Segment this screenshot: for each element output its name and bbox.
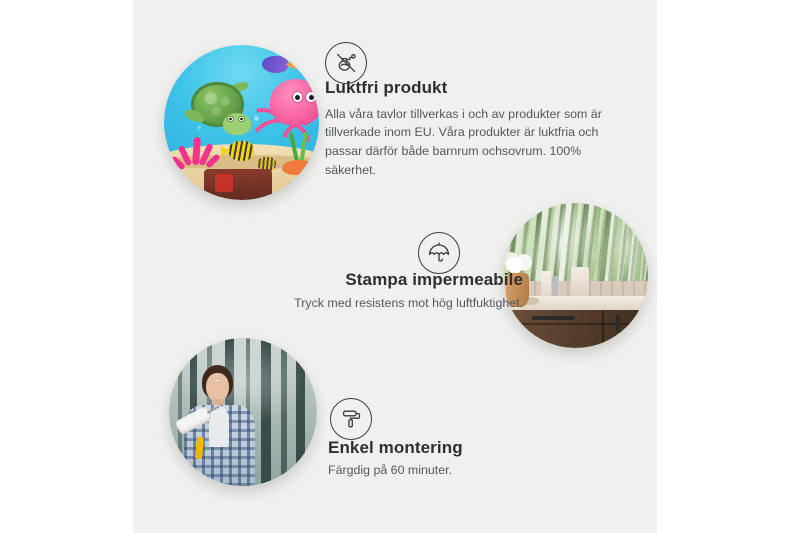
feature-body: Färgdig på 60 minuter. <box>328 461 588 480</box>
door-handle <box>616 314 620 332</box>
feature-title: Luktfri produkt <box>325 78 617 98</box>
toiletry-bottle <box>541 271 551 297</box>
striped-fish-icon <box>228 141 254 161</box>
feature-title: Enkel montering <box>328 438 588 458</box>
octopus-icon <box>248 79 319 153</box>
paint-roller-icon <box>330 398 372 440</box>
feature-body: Alla våra tavlor tillverkas i och av pro… <box>325 105 617 180</box>
drawer-handle <box>532 316 576 320</box>
faucet-icon <box>552 276 558 296</box>
bathroom-botanical-wallpaper-photo <box>503 203 648 348</box>
feature-block-waterproof: Stampa impermeabile Tryck med resistens … <box>193 270 523 312</box>
umbrella-icon <box>418 232 460 274</box>
feature-body: Tryck med resistens mot hög luftfuktighe… <box>193 294 523 313</box>
underwater-cartoon-photo <box>164 45 319 200</box>
feature-title: Stampa impermeabile <box>193 270 523 290</box>
vanity-cabinet <box>512 310 648 348</box>
crab-icon <box>282 160 316 176</box>
toiletry-bottle <box>571 267 588 299</box>
feature-block-easy-installation: Enkel montering Färgdig på 60 minuter. <box>328 438 588 479</box>
screenshot-canvas: Luktfri produkt Alla våra tavlor tillver… <box>0 0 800 533</box>
treasure-chest-icon <box>204 169 272 200</box>
feature-panel: Luktfri produkt Alla våra tavlor tillver… <box>133 0 657 533</box>
purple-fish-icon <box>262 56 288 73</box>
feature-block-odour-free: Luktfri produkt Alla våra tavlor tillver… <box>325 78 617 180</box>
woman-figure <box>181 365 258 486</box>
woman-with-paint-roller-forest-photo <box>169 338 317 486</box>
